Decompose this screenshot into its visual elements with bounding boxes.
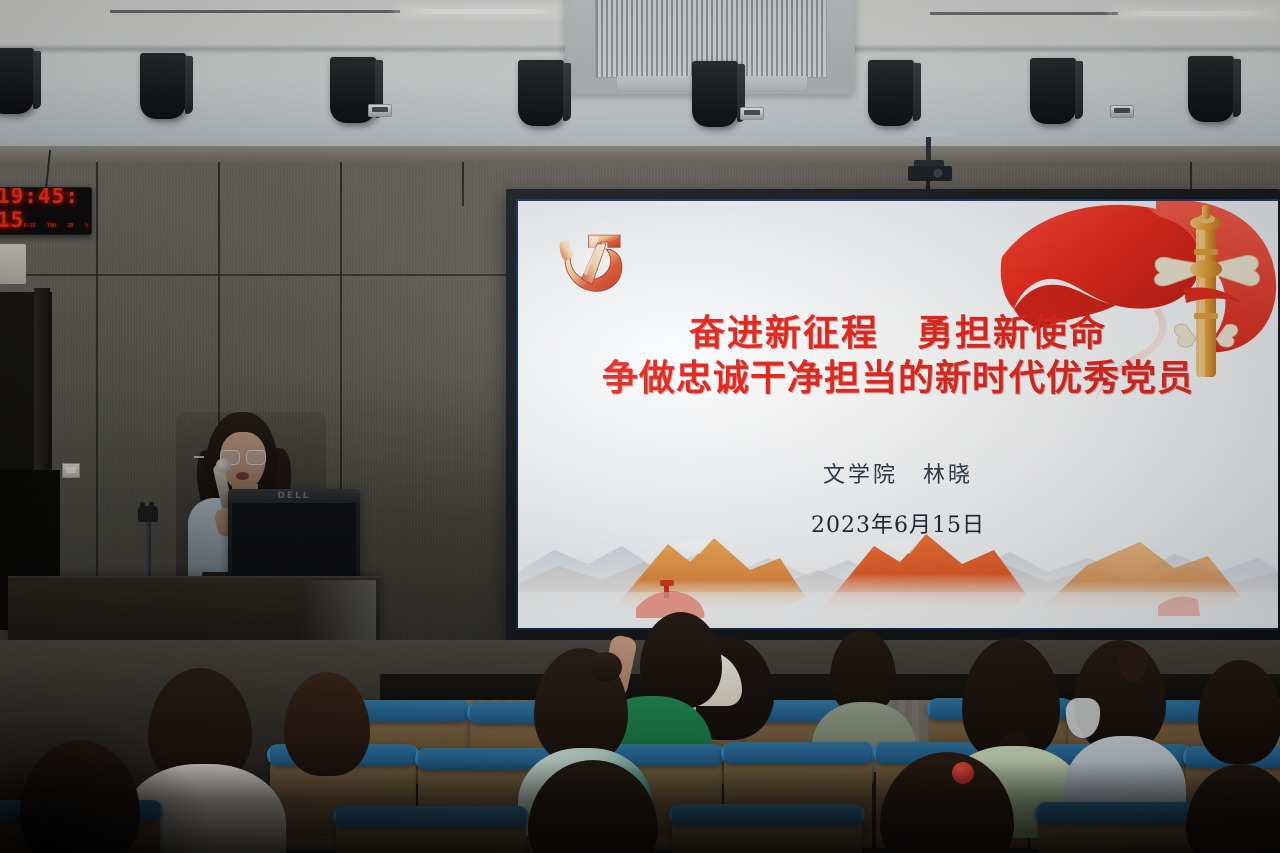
led-strip-left (398, 9, 566, 14)
ceiling (0, 0, 1280, 152)
ceiling-speaker-4 (518, 60, 564, 126)
seat-r1-2[interactable] (336, 806, 526, 853)
led-wall-clock: DATE TEMP 19:45: 15 2023 6-15 THU 28 % (0, 187, 92, 235)
hair-bun (590, 652, 622, 682)
clock-temp: 28 (67, 223, 73, 229)
ceiling-rail-left (110, 10, 400, 13)
projection-screen[interactable]: 奋进新征程 勇担新使命 争做忠诚干净担当的新时代优秀党员 文学院 林晓 2023… (518, 201, 1278, 628)
monitor-brand-logo: DELL (228, 491, 360, 501)
recessed-downlight-1 (368, 104, 392, 117)
auditorium-photo: DATE TEMP 19:45: 15 2023 6-15 THU 28 % (0, 0, 1280, 853)
presenter-mouth (236, 472, 249, 480)
slide-title-line2: 争做忠诚干净担当的新时代优秀党员 (518, 357, 1278, 400)
attendee-second-left (284, 672, 370, 776)
wall-mounted-box (0, 244, 26, 284)
ceiling-speaker-5 (692, 61, 738, 127)
microphone-clip (138, 506, 158, 522)
recessed-downlight-2 (740, 107, 764, 120)
recessed-downlight-3 (1110, 105, 1134, 118)
red-hair-tie (952, 762, 974, 784)
attendee-dark-hair-left (148, 668, 252, 786)
microphone-stand (146, 515, 151, 585)
clock-weekday: THU (47, 223, 56, 229)
wall-switch-plate-left[interactable] (62, 463, 80, 478)
ceiling-speaker-8 (1188, 56, 1234, 122)
clock-bottom-labels: 2023 6-15 THU 28 % (0, 221, 88, 230)
attendee-behind-center (830, 630, 896, 714)
ceiling-rail-right (930, 12, 1118, 15)
cpc-party-emblem (548, 219, 636, 311)
clock-date: 6-15 (24, 223, 36, 229)
attendee-front-center (528, 760, 658, 853)
podium-monitor[interactable]: DELL (228, 489, 360, 585)
attendee-front-left (20, 740, 140, 853)
seat-r1-3[interactable] (672, 804, 862, 853)
slide-title-block: 奋进新征程 勇担新使命 争做忠诚干净担当的新时代优秀党员 (518, 313, 1278, 400)
attendee-red-hairtie (880, 752, 1014, 853)
presentation-slide: 奋进新征程 勇担新使命 争做忠诚干净担当的新时代优秀党员 文学院 林晓 2023… (518, 201, 1278, 628)
attendee-far-right (1198, 660, 1280, 764)
clock-year: 2023 (0, 223, 12, 229)
attendee-front-right (1186, 764, 1280, 853)
monitor-display (232, 503, 356, 577)
ceiling-speaker-1 (0, 48, 34, 114)
ceiling-speaker-6 (868, 60, 914, 126)
attendee-floral-top (534, 648, 628, 764)
ceiling-speaker-7 (1030, 58, 1076, 124)
led-strip-right (1112, 11, 1280, 16)
attendee-green-shirt (640, 612, 722, 708)
clock-humidity: % (85, 223, 88, 229)
ceiling-speaker-2 (140, 53, 186, 119)
slide-presenter: 文学院 林晓 (518, 457, 1278, 489)
slide-title-line1: 奋进新征程 勇担新使命 (518, 313, 1278, 355)
attendee-masked (1074, 640, 1166, 752)
ink-wash-mountains (518, 488, 1278, 628)
clock-time-display: 19:45: 15 (0, 195, 91, 220)
glasses-bridge (194, 456, 204, 458)
attendee-light-green-top (962, 638, 1060, 762)
